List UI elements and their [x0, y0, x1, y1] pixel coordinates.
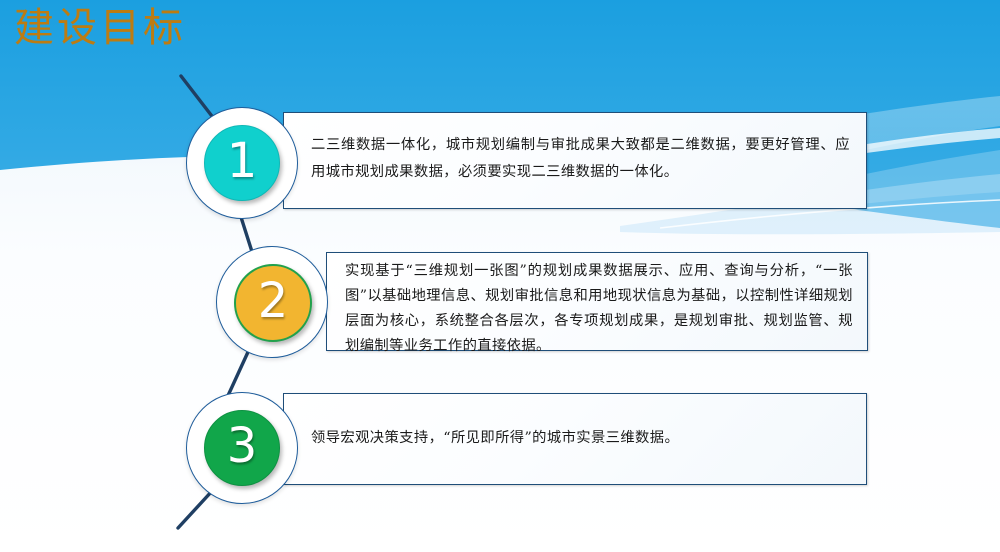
- goal-text-3: 领导宏观决策支持，“所见即所得”的城市实景三维数据。: [311, 425, 850, 452]
- goal-text-1: 二三维数据一体化，城市规划编制与审批成果大致都是二维数据，要更好管理、应用城市规…: [311, 132, 850, 186]
- step-circle-2[interactable]: 2: [216, 246, 328, 358]
- goal-textbox-3[interactable]: 领导宏观决策支持，“所见即所得”的城市实景三维数据。: [283, 393, 867, 485]
- step-number-3: 3: [227, 422, 258, 470]
- step-disc-2: 2: [234, 264, 312, 342]
- step-disc-3: 3: [204, 410, 280, 486]
- slide: 建设目标 二三维数据一体化，城市规划编制与审批成果大致都是二维数据，要更好管理、…: [0, 0, 1000, 552]
- step-number-2: 2: [258, 277, 289, 325]
- step-circle-3[interactable]: 3: [186, 392, 298, 504]
- step-circle-1[interactable]: 1: [186, 107, 298, 219]
- step-disc-1: 1: [204, 125, 280, 201]
- goal-textbox-1[interactable]: 二三维数据一体化，城市规划编制与审批成果大致都是二维数据，要更好管理、应用城市规…: [283, 112, 867, 209]
- goal-textbox-2[interactable]: 实现基于“三维规划一张图”的规划成果数据展示、应用、查询与分析，“一张图”以基础…: [326, 252, 868, 351]
- step-number-1: 1: [227, 137, 258, 185]
- goal-text-2: 实现基于“三维规划一张图”的规划成果数据展示、应用、查询与分析，“一张图”以基础…: [345, 259, 853, 359]
